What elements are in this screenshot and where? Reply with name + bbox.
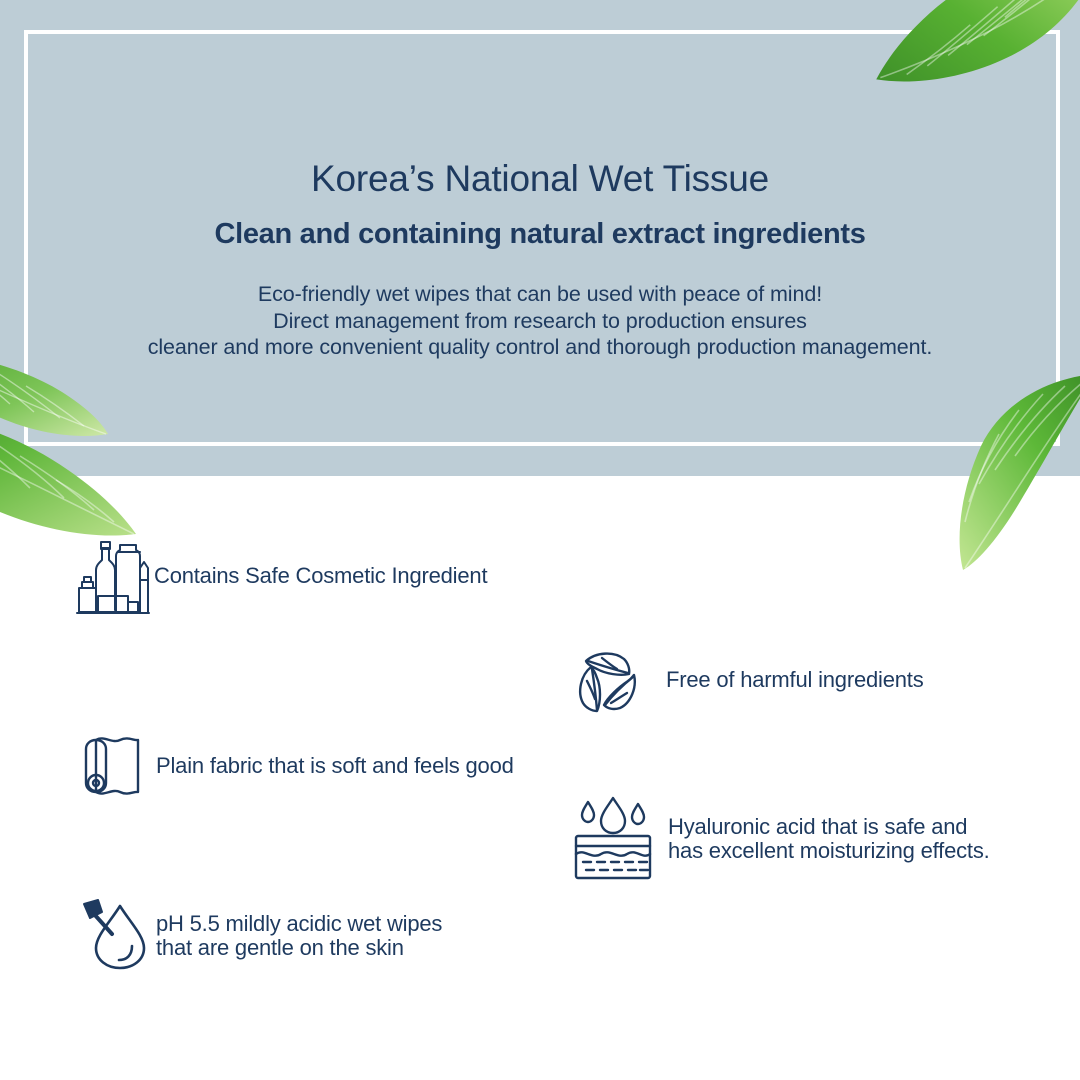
feature-label: Free of harmful ingredients <box>666 668 924 693</box>
recycle-leaves-icon <box>574 645 642 715</box>
water-droplets-skin-layers-icon <box>570 796 656 882</box>
feature-label: pH 5.5 mildly acidic wet wipes that are … <box>156 912 442 961</box>
feature-item-plain-fabric: Plain fabric that is soft and feels good <box>78 730 514 802</box>
feature-label: Plain fabric that is soft and feels good <box>156 754 514 779</box>
feature-item-cosmetic-ingredient: Contains Safe Cosmetic Ingredient <box>76 536 487 616</box>
feature-label: Contains Safe Cosmetic Ingredient <box>154 564 487 589</box>
fabric-roll-icon <box>78 730 150 802</box>
hero-description: Eco-friendly wet wipes that can be used … <box>0 281 1080 361</box>
hero-description-line-1: Eco-friendly wet wipes that can be used … <box>0 281 1080 308</box>
page-title: Korea’s National Wet Tissue <box>0 158 1080 201</box>
hero-subtitle: Clean and containing natural extract ing… <box>0 217 1080 251</box>
hero-text-block: Korea’s National Wet Tissue Clean and co… <box>0 0 1080 476</box>
feature-item-hyaluronic-acid: Hyaluronic acid that is safe and has exc… <box>570 796 990 882</box>
hero-description-line-3: cleaner and more convenient quality cont… <box>0 334 1080 361</box>
feature-item-ph-mildly-acidic: pH 5.5 mildly acidic wet wipes that are … <box>80 898 442 974</box>
cosmetic-bottles-icon <box>76 536 150 616</box>
hero-panel: Korea’s National Wet Tissue Clean and co… <box>0 0 1080 476</box>
dropper-water-drop-icon <box>80 898 152 974</box>
hero-description-line-2: Direct management from research to produ… <box>0 308 1080 335</box>
promo-graphic: Korea’s National Wet Tissue Clean and co… <box>0 0 1080 1080</box>
feature-label: Hyaluronic acid that is safe and has exc… <box>668 815 990 864</box>
feature-item-free-of-harmful: Free of harmful ingredients <box>574 645 924 715</box>
